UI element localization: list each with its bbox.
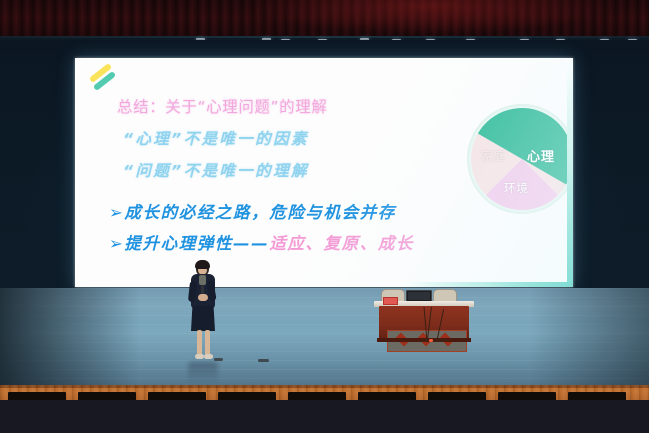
slide-logo-mark	[85, 64, 119, 90]
pie-label-jiating: 家庭	[481, 148, 506, 164]
slide-title: 总结：关于“心理问题”的理解	[117, 95, 327, 117]
presenter-hair	[195, 260, 210, 269]
presenter-leg-left	[197, 330, 202, 355]
power-strip	[421, 339, 447, 342]
slide-right-accent-bar	[567, 58, 573, 287]
floor-object	[258, 359, 269, 362]
presenter-leg-right	[205, 330, 210, 355]
slide-bullet-2: ➢提升心理弹性——适应、复原、成长	[109, 230, 414, 254]
presenter-figure	[186, 261, 220, 363]
curtain-glow	[0, 0, 649, 40]
presenter-scarf	[199, 275, 206, 285]
power-strip-led	[429, 339, 433, 342]
audience-seating	[0, 400, 649, 433]
presenter-hands	[198, 294, 208, 301]
pie-label-xinli: 心理	[527, 146, 555, 165]
slide-subtitle-2: “问题”不是唯一的理解	[123, 159, 309, 181]
stage-podium-table	[377, 289, 471, 341]
red-name-card	[383, 297, 398, 305]
projection-screen: 总结：关于“心理问题”的理解 “心理”不是唯一的因素 “问题”不是唯一的理解 ➢…	[75, 58, 573, 287]
presenter-skirt	[191, 306, 215, 331]
stage-floor-shadow-left	[0, 288, 140, 385]
laptop-screen	[408, 292, 430, 300]
presenter-shoe-right	[204, 354, 213, 359]
stage-floor-shadow-right	[529, 288, 649, 385]
slide-bottom-accent-bar	[405, 282, 573, 287]
pie-label-huanjing: 环境	[504, 180, 529, 196]
presenter-shoe-left	[195, 354, 204, 359]
auditorium-scene: 总结：关于“心理问题”的理解 “心理”不是唯一的因素 “问题”不是唯一的理解 ➢…	[0, 0, 649, 433]
slide-subtitle-1: “心理”不是唯一的因素	[123, 127, 309, 149]
presenter-reflection	[188, 362, 218, 384]
slide-bullet-2-pink: 适应、复原、成长	[269, 234, 414, 253]
slide-bullet-2-blue: ➢提升心理弹性——	[109, 234, 269, 253]
factors-pie-chart: 家庭 心理 环境	[467, 104, 573, 214]
slide-bullet-1: ➢成长的必经之路，危险与机会并存	[109, 199, 396, 223]
